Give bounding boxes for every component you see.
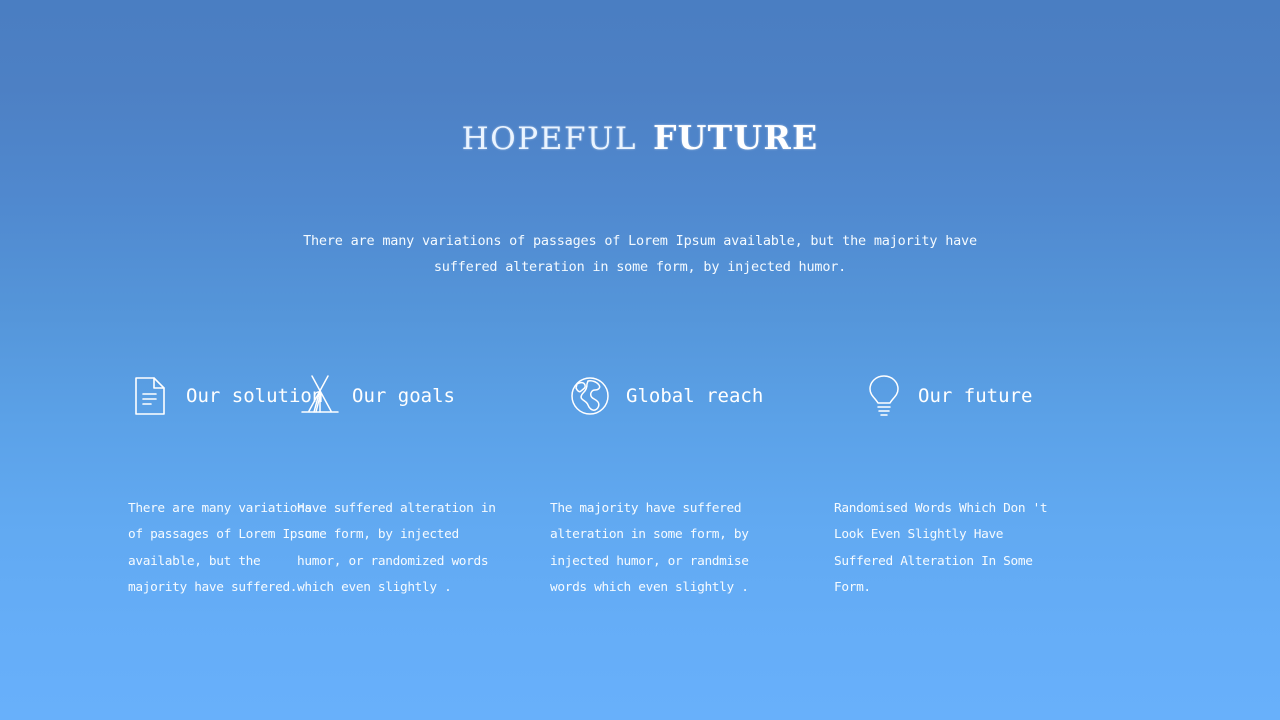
feature-columns: Our solution There are many variations o… [0,368,1280,424]
feature-column-our-solution: Our solution There are many variations o… [0,368,270,424]
document-icon [128,371,172,421]
title-word-hopeful: HOPEFUL [462,121,637,157]
feature-column-global-reach: Global reach The majority have suffered … [540,368,822,424]
feature-heading-our-future: Our future [918,385,1032,407]
feature-column-our-goals: Our goals Have suffered alteration in so… [270,368,540,424]
feature-body-our-goals: Have suffered alteration in some form, b… [297,496,497,601]
subtitle-text: There are many variations of passages of… [290,228,990,280]
feature-body-global-reach: The majority have suffered alteration in… [550,496,762,601]
feature-heading-global-reach: Global reach [626,385,763,407]
feature-header-our-solution: Our solution [128,368,270,424]
globe-icon [568,371,612,421]
feature-header-our-goals: Our goals [298,368,540,424]
teepee-tent-icon [298,371,342,421]
lightbulb-icon [862,371,906,421]
slide-root: HOPEFULFUTURE There are many variations … [0,0,1280,720]
feature-column-our-future: Our future Randomised Words Which Don 't… [822,368,1122,424]
title-word-future: FUTURE [653,118,818,157]
feature-body-our-future: Randomised Words Which Don 't Look Even … [834,496,1049,601]
feature-heading-our-goals: Our goals [352,385,455,407]
page-title: HOPEFULFUTURE [0,118,1280,157]
feature-body-our-solution: There are many variations of passages of… [128,496,324,601]
feature-header-global-reach: Global reach [568,368,822,424]
feature-header-our-future: Our future [862,368,1122,424]
